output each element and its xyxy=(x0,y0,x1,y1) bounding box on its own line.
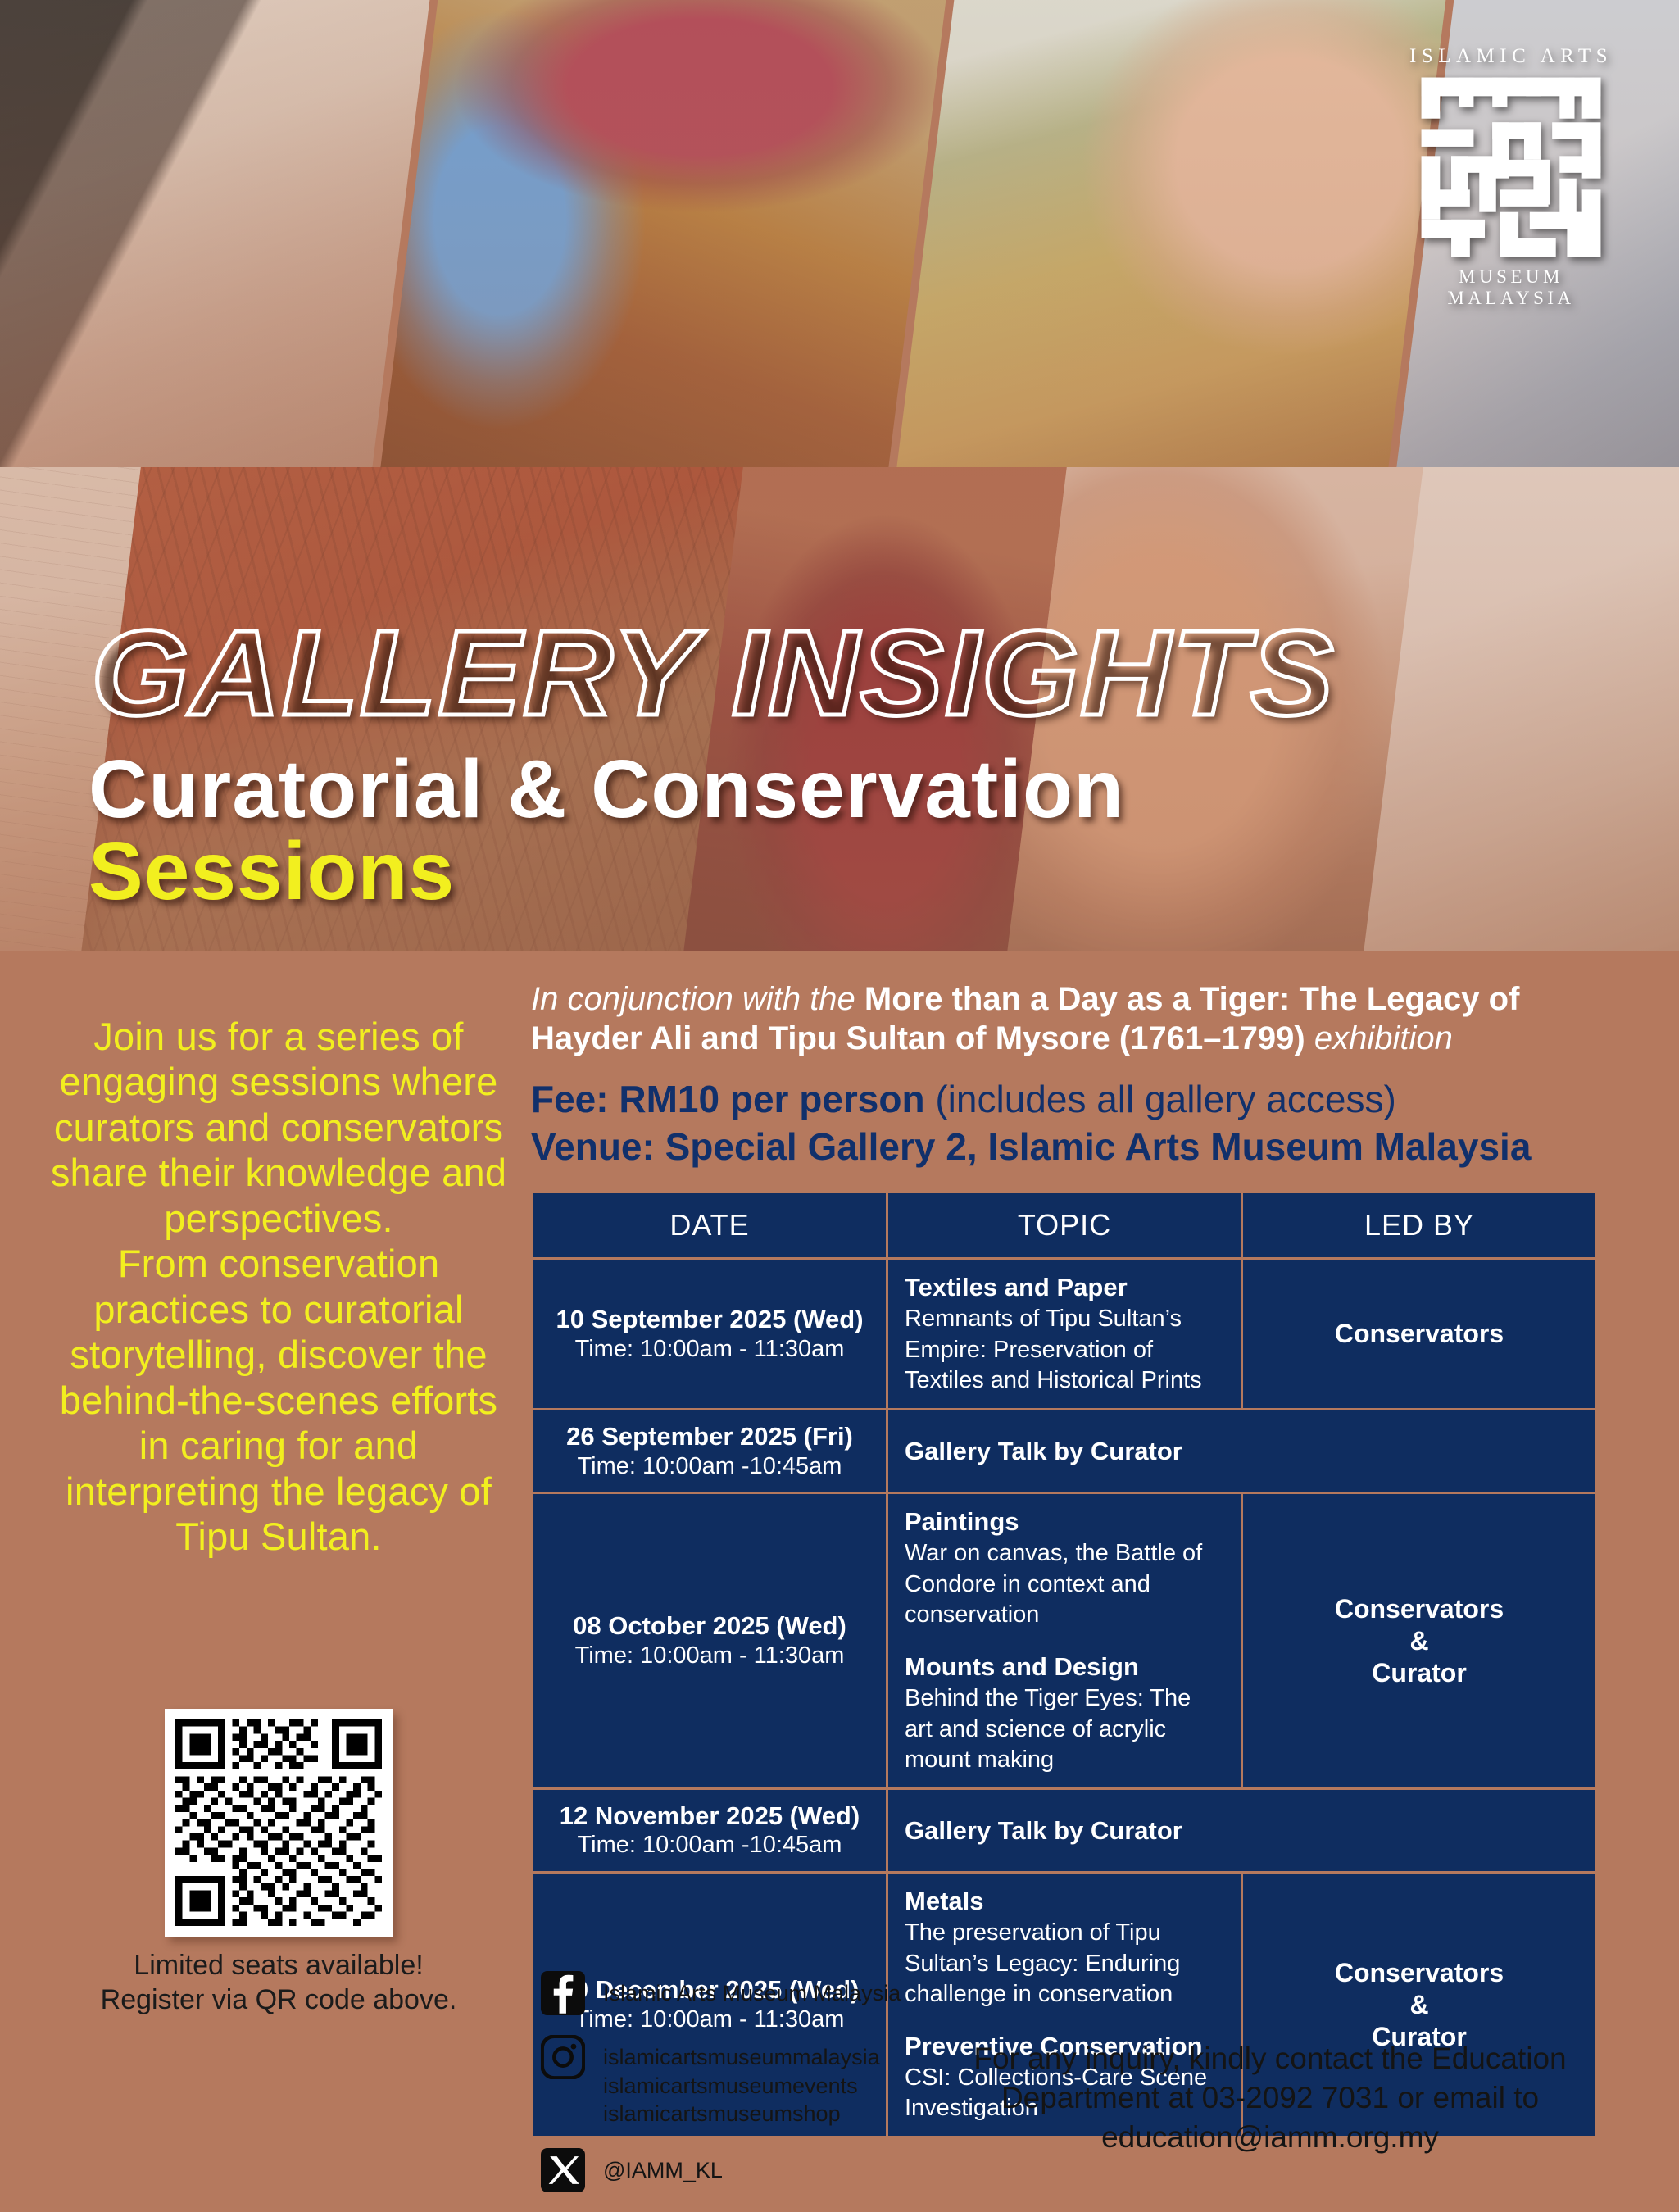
topic-heading: Gallery Talk by Curator xyxy=(905,1435,1579,1468)
cell-led-by: Conservators xyxy=(1242,1259,1597,1410)
hero-collage: GALLERY INSIGHTS Curatorial & Conservati… xyxy=(0,0,1679,951)
row-time: Time: 10:00am -10:45am xyxy=(540,1452,879,1481)
cell-date: 12 November 2025 (Wed) Time: 10:00am -10… xyxy=(533,1788,887,1872)
topic-heading: Gallery Talk by Curator xyxy=(905,1815,1579,1847)
topic-body: Behind the Tiger Eyes: The art and scien… xyxy=(905,1683,1224,1776)
conjunction-line: In conjunction with the More than a Day … xyxy=(531,979,1629,1058)
topic-heading: Paintings xyxy=(905,1506,1224,1538)
table-row: 12 November 2025 (Wed) Time: 10:00am -10… xyxy=(533,1788,1597,1872)
venue-line: Venue: Special Gallery 2, Islamic Arts M… xyxy=(531,1124,1629,1170)
qr-note: Limited seats available! Register via QR… xyxy=(86,1948,471,2017)
logo-bottom-text: MUSEUM MALAYSIA xyxy=(1392,266,1630,309)
social-instagram-label: islamicartsmuseummalaysia islamicartsmus… xyxy=(603,2035,880,2128)
qr-code-icon[interactable] xyxy=(165,1709,393,1937)
header-led-by: LED BY xyxy=(1242,1192,1597,1259)
table-header-row: DATE TOPIC LED BY xyxy=(533,1192,1597,1259)
table-row: 08 October 2025 (Wed) Time: 10:00am - 11… xyxy=(533,1493,1597,1788)
title-curatorial-conservation: Curatorial & Conservation xyxy=(0,743,1679,835)
cell-date: 08 October 2025 (Wed) Time: 10:00am - 11… xyxy=(533,1493,887,1788)
topic-body: War on canvas, the Battle of Condore in … xyxy=(905,1538,1224,1631)
row-date: 10 September 2025 (Wed) xyxy=(540,1305,879,1335)
cell-topic: Paintings War on canvas, the Battle of C… xyxy=(887,1493,1242,1788)
row-time: Time: 10:00am -10:45am xyxy=(540,1831,879,1860)
iamm-logo: ISLAMIC ARTS xyxy=(1392,45,1630,309)
topic-heading: Mounts and Design xyxy=(905,1651,1224,1683)
qr-block: Limited seats available! Register via QR… xyxy=(86,1709,471,2017)
social-facebook-label: Islamic Arts Museum Malaysia xyxy=(603,1971,901,2008)
topic-heading: Metals xyxy=(905,1885,1224,1918)
row-date: 26 September 2025 (Fri) xyxy=(540,1422,879,1452)
row-date: 08 October 2025 (Wed) xyxy=(540,1611,879,1642)
instagram-icon xyxy=(541,2035,585,2079)
facebook-icon xyxy=(541,1971,585,2015)
logo-top-text: ISLAMIC ARTS xyxy=(1392,45,1630,68)
main-content: Join us for a series of engaging session… xyxy=(0,951,1679,2098)
cell-date: 10 September 2025 (Wed) Time: 10:00am - … xyxy=(533,1259,887,1410)
row-time: Time: 10:00am - 11:30am xyxy=(540,1335,879,1364)
kufic-square-logo-icon xyxy=(1418,74,1604,261)
row-date: 12 November 2025 (Wed) xyxy=(540,1801,879,1832)
social-x-label: @IAMM_KL xyxy=(603,2148,723,2185)
fee-bold: Fee: RM10 per person xyxy=(531,1078,925,1120)
hero-title-group: GALLERY INSIGHTS Curatorial & Conservati… xyxy=(0,611,1679,912)
cell-led-by: Conservators & Curator xyxy=(1242,1493,1597,1788)
intro-blurb: Join us for a series of engaging session… xyxy=(49,1014,508,1559)
right-column: In conjunction with the More than a Day … xyxy=(531,951,1629,2138)
cell-date: 26 September 2025 (Fri) Time: 10:00am -1… xyxy=(533,1410,887,1493)
x-twitter-icon xyxy=(541,2148,585,2192)
header-topic: TOPIC xyxy=(887,1192,1242,1259)
fee-line: Fee: RM10 per person (includes all galle… xyxy=(531,1076,1629,1122)
row-time: Time: 10:00am - 11:30am xyxy=(540,1642,879,1670)
conjunction-trail: exhibition xyxy=(1305,1020,1453,1056)
topic-heading: Textiles and Paper xyxy=(905,1271,1224,1304)
cell-topic: Textiles and Paper Remnants of Tipu Sult… xyxy=(887,1259,1242,1410)
fee-light: (includes all gallery access) xyxy=(925,1078,1396,1120)
topic-body: Remnants of Tipu Sultan’s Empire: Preser… xyxy=(905,1304,1224,1397)
cell-topic: Gallery Talk by Curator xyxy=(887,1410,1597,1493)
title-sessions: Sessions xyxy=(0,830,1679,912)
social-facebook[interactable]: Islamic Arts Museum Malaysia xyxy=(541,1971,1049,2015)
title-gallery-insights: GALLERY INSIGHTS xyxy=(0,611,1679,737)
cell-topic: Gallery Talk by Curator xyxy=(887,1788,1597,1872)
table-row: 26 September 2025 (Fri) Time: 10:00am -1… xyxy=(533,1410,1597,1493)
header-date: DATE xyxy=(533,1192,887,1259)
inquiry-text: For any inquiry, kindly contact the Educ… xyxy=(926,2039,1614,2157)
table-row: 10 September 2025 (Wed) Time: 10:00am - … xyxy=(533,1259,1597,1410)
conjunction-lead: In conjunction with the xyxy=(531,981,864,1017)
topic-spacer xyxy=(905,1631,1224,1651)
